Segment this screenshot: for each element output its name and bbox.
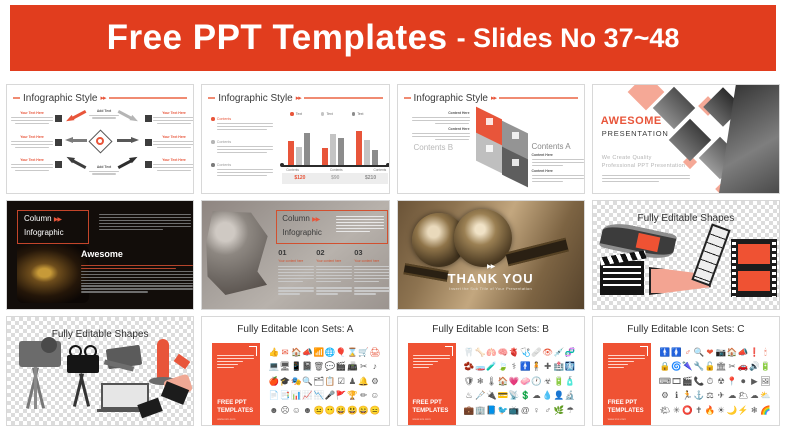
icon-cell[interactable]: 😶: [325, 406, 336, 415]
icon-grid-c[interactable]: 🚹🚺♂🔍❤📷🏠📣❗🕯🔒🌀🌂🔧🔓🏛✂🚗🔊🔋⌨🎞🎬📞⏱☢📍⏺▶🖼⚙ℹ🏃⚓⚖✈☁🌥☁⛅…: [659, 345, 771, 417]
legend-label: Text: [357, 112, 363, 116]
cover-card: FREE PPT TEMPLATES www.xxx.com: [603, 343, 651, 425]
category-label: Contents: [373, 168, 386, 172]
cover-body: [602, 173, 690, 184]
icon-cell[interactable]: ❄: [751, 406, 758, 415]
header-dash: [404, 97, 411, 99]
icon-cell[interactable]: ⌛: [347, 348, 358, 357]
icon-cell[interactable]: 🌙: [727, 406, 738, 415]
icon-cell[interactable]: 🍎: [269, 377, 280, 386]
label-contents-b: Contents B: [414, 143, 454, 152]
icon-cell[interactable]: 🫁: [486, 348, 497, 357]
cover-big-text: FREE PPT TEMPLATES: [413, 400, 456, 415]
icon-cell[interactable]: 🏠: [727, 348, 738, 357]
arrow-left-2: [65, 137, 87, 144]
icon-cell[interactable]: 🚩: [336, 391, 347, 400]
value-label-2: $90: [318, 173, 353, 184]
icon-cell[interactable]: 💲: [520, 391, 531, 400]
column-title-line2: Infographic: [282, 228, 322, 237]
slide-canvas: ▶▶ THANK YOU Insert the Sub Title of You…: [398, 201, 584, 309]
slide-canvas: Column ▶▶ Infographic Awesome: [7, 201, 193, 309]
block-heading: Your Text Here: [11, 111, 53, 115]
icon-cell[interactable]: ⚡: [738, 406, 749, 415]
double-arrow-icon: ▶▶: [54, 217, 61, 223]
bar-g2-s1: [322, 148, 328, 165]
icon-cell[interactable]: 🩼: [475, 391, 486, 400]
icon-cell[interactable]: 🎭: [291, 377, 302, 386]
icon-cell[interactable]: 😄: [358, 406, 369, 415]
play-icon: [55, 139, 62, 146]
icon-cell[interactable]: 💳: [497, 391, 508, 400]
icon-cell[interactable]: ☑: [337, 377, 345, 386]
column-number: 01: [278, 248, 314, 257]
category-label: Contents: [330, 168, 343, 172]
text-block-4: Your Text Here: [153, 111, 194, 126]
icon-cell[interactable]: ♨: [465, 391, 473, 400]
slide-thumbnail-47[interactable]: Fully Editable Icon Sets: B FREE PPT TEM…: [397, 316, 585, 426]
icon-cell[interactable]: 🔧: [693, 362, 704, 371]
slide-header: Infographic Style ▸▸: [208, 91, 382, 105]
icon-cell[interactable]: 🎬: [336, 362, 347, 371]
block-heading: Your Text Here: [153, 135, 194, 139]
icon-cell[interactable]: 🌿: [554, 406, 565, 415]
icon-cell[interactable]: 🗑: [313, 362, 324, 371]
document-icon: [486, 145, 493, 152]
icon-cell[interactable]: 👁: [542, 348, 553, 357]
icon-cell[interactable]: 📱: [291, 362, 302, 371]
icon-cell[interactable]: ❄: [477, 377, 484, 386]
icon-cell[interactable]: 🏢: [475, 406, 486, 415]
column-2: 02 Your content here: [316, 248, 352, 296]
shapes-title: Fully Editable Shapes: [593, 213, 779, 224]
icon-cell[interactable]: 🏥: [554, 362, 565, 371]
icon-cell[interactable]: ☁: [750, 391, 759, 400]
trophy-icon: [145, 161, 152, 168]
icon-cell[interactable]: 😑: [370, 406, 381, 415]
icon-cell[interactable]: 💬: [325, 362, 336, 371]
icon-cell[interactable]: 🌐: [325, 348, 336, 357]
icon-cell[interactable]: ⚖: [706, 391, 714, 400]
slide-canvas: Fully Editable Icon Sets: C FREE PPT TEM…: [593, 317, 779, 425]
block-heading: Your Text Here: [11, 135, 53, 139]
text-block-2: Your Text Here: [11, 135, 53, 150]
icon-cell[interactable]: 📈: [302, 391, 313, 400]
slide-canvas: Fully Editable Shapes: [7, 317, 193, 425]
icon-cell[interactable]: 🩺: [520, 348, 531, 357]
icon-cell[interactable]: 🌂: [682, 362, 693, 371]
icon-cell[interactable]: 🧫: [475, 362, 486, 371]
category-label: Contents: [286, 168, 299, 172]
chart-legend: Text Text Text: [290, 112, 363, 116]
right-content-1: Content Here: [532, 153, 584, 168]
icon-cell[interactable]: 💼: [464, 406, 475, 415]
icon-cell[interactable]: 🧠: [497, 348, 508, 357]
icon-cell[interactable]: 🦷: [464, 348, 475, 357]
icon-grid-b[interactable]: 🦷🦴🫁🧠🫀🩺🩹👁💉🧬🫘🧫🧪🍃⚕🚹🧍✚🏥🩻🛡❄🌡🏠💗🧼🕐☣🔋🧴♨🩼🔌💳📡💲☁💧👤🔬…: [464, 345, 576, 417]
icon-cell[interactable]: 🖨: [369, 348, 380, 357]
icon-cell[interactable]: 📡: [509, 391, 520, 400]
icon-cell[interactable]: 📓: [302, 362, 313, 371]
icon-cell[interactable]: ⚙: [371, 377, 379, 386]
bar-g2-s3: [338, 138, 344, 165]
icon-cell[interactable]: 🔒: [660, 362, 671, 371]
axis-cap-right: [386, 163, 389, 167]
icon-cell[interactable]: 🎤: [325, 391, 336, 400]
slide-thumbnail-37[interactable]: Infographic Style ▸▸: [6, 84, 194, 194]
film-canister-photo: [17, 245, 89, 303]
slide-title: Infographic Style: [218, 93, 293, 104]
cover-lines: [217, 353, 254, 370]
bullet-dot-icon: [211, 163, 215, 167]
slide-thumbnail-48[interactable]: Fully Editable Icon Sets: C FREE PPT TEM…: [592, 316, 780, 426]
bullet-item-1: Contents: [211, 117, 273, 132]
icon-cell[interactable]: 🚺: [671, 348, 682, 357]
icon-cell[interactable]: 📺: [509, 406, 520, 415]
icon-cell[interactable]: 🚹: [660, 348, 671, 357]
icon-cell[interactable]: 🛡: [464, 377, 475, 386]
icon-cell[interactable]: ☁: [532, 391, 541, 400]
chat-icon: [145, 139, 152, 146]
icon-cell[interactable]: 🏛: [716, 362, 727, 371]
banner-subtitle: - Slides No 37~48: [457, 23, 680, 54]
cover-big-text: FREE PPT TEMPLATES: [217, 400, 260, 415]
cover-lines: [608, 353, 645, 370]
icon-cell[interactable]: 🔋: [760, 362, 771, 371]
icon-cell[interactable]: 🦴: [475, 348, 486, 357]
bullet-item-3: Contents: [211, 163, 273, 178]
lock-icon: [486, 118, 493, 125]
bar-chart-plot: [286, 121, 386, 165]
icon-cell[interactable]: 😃: [347, 406, 358, 415]
icon-cell[interactable]: 🏠: [497, 377, 508, 386]
arrow-right-2: [117, 137, 139, 144]
icon-cell[interactable]: 📶: [313, 348, 324, 357]
slide-title: Infographic Style: [414, 93, 489, 104]
operator-head-icon: [41, 337, 57, 353]
icon-cell[interactable]: ⚓: [693, 391, 704, 400]
slide-thumbnail-grid: Infographic Style ▸▸: [6, 84, 780, 426]
icon-grid-a[interactable]: 👍✉🏠📣📶🌐🎈⌛🛒🖨💻🖥📱📓🗑💬🎬📠✂♪🍎🎓🎭🔍🗂📋☑♟🔔⚙📄📑📊📈📉🎤🚩🏆✏☺…: [268, 345, 380, 417]
icon-cell[interactable]: ❗: [749, 348, 760, 357]
film-reel-2: [454, 209, 512, 267]
legend-label: Text: [296, 112, 302, 116]
icon-cell[interactable]: 🎓: [280, 377, 291, 386]
section-heading: Awesome: [81, 249, 123, 259]
column-subheading: Your content here: [278, 259, 314, 263]
center-caption-bottom: Add Text: [83, 165, 125, 175]
slide-thumbnail-44[interactable]: Fully Editable Shapes: [592, 200, 780, 310]
icon-cell[interactable]: 🎬: [682, 377, 693, 386]
icon-cell[interactable]: 🔍: [693, 348, 704, 357]
icon-cell[interactable]: ▶: [751, 377, 758, 386]
title-text: Column: [24, 214, 52, 223]
left-content-2: Content Here: [412, 127, 470, 142]
icon-cell[interactable]: 🌥: [738, 391, 749, 400]
slide-title: Infographic Style: [23, 93, 98, 104]
icon-cell[interactable]: 🚗: [738, 362, 749, 371]
cover-big-text: FREE PPT TEMPLATES: [608, 400, 651, 415]
icon-cell[interactable]: ☻: [269, 406, 278, 415]
icon-cell[interactable]: 🌤: [659, 406, 670, 415]
bullet-item-2: Contents: [211, 140, 273, 155]
icon-cell[interactable]: 🔌: [486, 391, 497, 400]
title-text: Column: [282, 214, 310, 223]
icon-cell[interactable]: ❤: [706, 348, 713, 357]
clapperboard-icon: [600, 261, 644, 295]
icon-cell[interactable]: 📞: [693, 377, 704, 386]
icon-cell[interactable]: ☁: [728, 391, 737, 400]
shield-icon: [512, 132, 519, 139]
icon-cell[interactable]: ♪: [373, 362, 377, 371]
icon-cell[interactable]: 📷: [716, 348, 727, 357]
icon-cell[interactable]: ✳: [673, 406, 680, 415]
icon-cell[interactable]: 📣: [302, 348, 313, 357]
block-heading: Your Text Here: [153, 158, 194, 162]
icon-cell[interactable]: 🫘: [464, 362, 475, 371]
double-arrow-icon: ▸▸: [296, 94, 301, 102]
slide-header: Infographic Style ▸▸: [404, 91, 578, 105]
iconset-title: Fully Editable Icon Sets: A: [202, 324, 388, 335]
icon-cell[interactable]: 🧬: [565, 348, 576, 357]
icon-cell[interactable]: ✝: [695, 406, 702, 415]
value-label-1: $120: [282, 173, 317, 184]
icon-cell[interactable]: 🏠: [291, 348, 302, 357]
double-arrow-icon: ▸▸: [101, 94, 106, 102]
bar-g3-s1: [356, 131, 362, 165]
bar-g2-s2: [330, 134, 336, 165]
thank-you-subheading: Insert the Sub Title of Your Presentatio…: [398, 286, 584, 291]
thank-you-heading: THANK YOU: [398, 271, 584, 286]
icon-cell[interactable]: 🚹: [520, 362, 531, 371]
iconset-title: Fully Editable Icon Sets: C: [593, 324, 779, 335]
icon-cell[interactable]: 🌡: [486, 377, 497, 386]
icon-cell[interactable]: 👍: [269, 348, 280, 357]
slide-canvas: Column ▶▶ Infographic 01 Your content he…: [202, 201, 388, 309]
icon-cell[interactable]: 🔥: [705, 406, 716, 415]
icon-cell[interactable]: ☂: [566, 406, 574, 415]
icon-cell[interactable]: ⚙: [661, 391, 669, 400]
icon-cell[interactable]: 🩻: [565, 362, 576, 371]
icon-cell[interactable]: 📑: [280, 391, 291, 400]
award-trophy-icon: [157, 339, 169, 379]
icon-cell[interactable]: ✉: [282, 348, 289, 357]
content-heading: Content Here: [412, 111, 470, 115]
icon-cell[interactable]: 📠: [347, 362, 358, 371]
icon-cell[interactable]: 💧: [542, 391, 553, 400]
icon-cell[interactable]: 💉: [554, 348, 565, 357]
icon-cell[interactable]: 📉: [313, 391, 324, 400]
double-arrow-icon: ▶▶: [398, 263, 584, 270]
slide-thumbnail-46[interactable]: Fully Editable Icon Sets: A FREE PPT TEM…: [201, 316, 389, 426]
slide-thumbnail-39[interactable]: Infographic Style ▸▸ Content Here: [397, 84, 585, 194]
icon-cell[interactable]: 💗: [509, 377, 520, 386]
center-circle-icon: [96, 137, 104, 145]
icon-cell[interactable]: 🌀: [671, 362, 682, 371]
content-heading: Content Here: [532, 153, 584, 157]
icon-cell[interactable]: ⭕: [682, 406, 693, 415]
icon-cell[interactable]: 🩹: [531, 348, 542, 357]
icon-cell[interactable]: 😐: [313, 406, 324, 415]
bullet-dot-icon: [211, 117, 215, 121]
icon-cell[interactable]: ♂: [544, 406, 550, 415]
intro-paragraph: [336, 214, 384, 234]
icon-cell[interactable]: 🕐: [531, 377, 542, 386]
icon-cell[interactable]: 🌈: [760, 406, 771, 415]
bar-g3-s3: [372, 150, 378, 165]
battery-icon: [145, 115, 152, 122]
printer-icon: [55, 115, 62, 122]
icon-cell[interactable]: ☻: [303, 406, 312, 415]
icon-cell[interactable]: 🧪: [486, 362, 497, 371]
icon-cell[interactable]: ℹ: [675, 391, 678, 400]
column-title-line1: Column ▶▶: [282, 214, 319, 223]
icon-cell[interactable]: ⏱: [707, 377, 714, 386]
slide-canvas: AWESOME PRESENTATION We Create Quality P…: [593, 85, 779, 193]
chart-x-axis: [282, 165, 388, 167]
slide-canvas: Fully Editable Shapes: [593, 201, 779, 309]
icon-cell[interactable]: ☢: [717, 377, 725, 386]
double-arrow-icon: ▸▸: [491, 94, 496, 102]
projector-reel-1: [69, 345, 82, 358]
axis-cap-left: [280, 163, 284, 167]
icon-cell[interactable]: 🏃: [682, 391, 693, 400]
text-block-5: Your Text Here: [153, 135, 194, 150]
icon-cell[interactable]: ⌨: [659, 377, 671, 386]
slide-thumbnail-43[interactable]: ▶▶ THANK YOU Insert the Sub Title of You…: [397, 200, 585, 310]
header-rule: [499, 97, 578, 99]
slide-header: Infographic Style ▸▸: [13, 91, 187, 105]
column-number: 02: [316, 248, 352, 257]
slide-thumbnail-42[interactable]: Column ▶▶ Infographic 01 Your content he…: [201, 200, 389, 310]
icon-cell[interactable]: 🛒: [358, 348, 369, 357]
icon-cell[interactable]: 🧼: [520, 377, 531, 386]
bullet-label: Contents: [217, 163, 231, 167]
icon-cell[interactable]: ✏: [360, 391, 367, 400]
icon-cell[interactable]: 🔔: [358, 377, 369, 386]
slide-thumbnail-45[interactable]: Fully Editable Shapes: [6, 316, 194, 426]
icon-cell[interactable]: 🔋: [554, 377, 565, 386]
block-heading: Your Text Here: [153, 111, 194, 115]
icon-cell[interactable]: ☺: [292, 406, 301, 415]
icon-cell[interactable]: 🧍: [531, 362, 542, 371]
icon-cell[interactable]: ☀: [717, 406, 725, 415]
bullet-label: Contents: [217, 117, 231, 121]
tripod-leg: [34, 367, 37, 409]
icon-cell[interactable]: ☣: [544, 377, 552, 386]
column-title-line2: Infographic: [24, 228, 64, 237]
column-title-line1: Column ▶▶: [24, 214, 61, 223]
column-number: 03: [354, 248, 389, 257]
page-root: Free PPT Templates - Slides No 37~48 Inf…: [0, 0, 786, 430]
cover-tagline-2: Professional PPT Presentation: [602, 163, 686, 169]
header-dash: [208, 97, 215, 99]
header-rule: [109, 97, 188, 99]
movie-projector-icon: [67, 355, 99, 373]
content-heading: Content Here: [532, 169, 584, 173]
slide-thumbnail-40[interactable]: AWESOME PRESENTATION We Create Quality P…: [592, 84, 780, 194]
icon-cell[interactable]: 🔊: [749, 362, 760, 371]
icon-cell[interactable]: 📋: [325, 377, 336, 386]
label-contents-a: Contents A: [532, 142, 571, 151]
icon-cell[interactable]: ☺: [371, 391, 380, 400]
column-subheading: Your content here: [354, 259, 389, 263]
icon-cell[interactable]: 🖼: [760, 377, 771, 386]
icon-cell[interactable]: 🧴: [565, 377, 576, 386]
icon-cell[interactable]: ✚: [544, 362, 551, 371]
slide-thumbnail-38[interactable]: Infographic Style ▸▸ Contents Contents: [201, 84, 389, 194]
icon-cell[interactable]: ♀: [533, 406, 539, 415]
icon-cell[interactable]: ✈: [717, 391, 724, 400]
icon-cell[interactable]: 💻: [269, 362, 280, 371]
slide-thumbnail-41[interactable]: Column ▶▶ Infographic Awesome: [6, 200, 194, 310]
cover-card: FREE PPT TEMPLATES www.xxx.com: [212, 343, 260, 425]
header-banner: Free PPT Templates - Slides No 37~48: [10, 5, 776, 71]
icon-cell[interactable]: 🐦: [497, 406, 508, 415]
icon-cell[interactable]: 🕯: [764, 348, 766, 357]
bar-g1-s1: [288, 141, 294, 165]
column-subheading: Your content here: [316, 259, 352, 263]
legend-swatch: [290, 112, 294, 116]
icon-cell[interactable]: 🔍: [302, 377, 313, 386]
icon-cell[interactable]: 🎞: [671, 377, 682, 386]
cover-url: www.xxx.com: [608, 417, 626, 421]
block-heading: Your Text Here: [11, 158, 53, 162]
icon-cell[interactable]: ⏺: [741, 377, 745, 386]
header-dash: [13, 97, 20, 99]
icon-cell[interactable]: 🖥: [280, 362, 291, 371]
icon-cell[interactable]: 😀: [336, 406, 347, 415]
content-heading: Content Here: [412, 127, 470, 131]
icon-cell[interactable]: ✂: [360, 362, 367, 371]
icon-cell[interactable]: 🍃: [497, 362, 508, 371]
icon-cell[interactable]: 📊: [291, 391, 302, 400]
text-block-6: Your Text Here: [153, 158, 194, 173]
icon-cell[interactable]: ⛅: [760, 391, 771, 400]
icon-cell[interactable]: ♂: [684, 348, 690, 357]
column-3: 03 Your content here: [354, 248, 389, 296]
cover-tagline-1: We Create Quality: [602, 155, 652, 161]
cover-card: FREE PPT TEMPLATES www.xxx.com: [408, 343, 456, 425]
icon-cell[interactable]: 👤: [554, 391, 565, 400]
icon-cell[interactable]: ☹: [281, 406, 290, 415]
cover-lines: [413, 353, 450, 370]
legend-swatch: [321, 112, 325, 116]
icon-cell[interactable]: ✂: [729, 362, 736, 371]
icon-cell[interactable]: @: [521, 406, 530, 415]
chart-category-labels: Contents Contents Contents: [286, 168, 386, 172]
icon-cell[interactable]: ⚕: [512, 362, 517, 371]
icon-cell[interactable]: 🗂: [313, 377, 324, 386]
right-content-2: Content Here: [532, 169, 584, 184]
icon-cell[interactable]: 🏆: [347, 391, 358, 400]
icon-cell[interactable]: 📣: [738, 348, 749, 357]
bar-g1-s3: [304, 133, 310, 165]
icon-cell[interactable]: 🫀: [509, 348, 520, 357]
icon-cell[interactable]: 🔬: [565, 391, 576, 400]
tools-icon: [512, 159, 519, 166]
cover-url: www.xxx.com: [217, 417, 235, 421]
body-paragraph: [81, 263, 193, 294]
icon-cell[interactable]: ♟: [349, 377, 357, 386]
left-content-1: Content Here: [412, 111, 470, 126]
icon-cell[interactable]: 🎈: [336, 348, 347, 357]
bullet-dot-icon: [211, 140, 215, 144]
icon-cell[interactable]: 📄: [269, 391, 280, 400]
icon-cell[interactable]: 🔓: [705, 362, 716, 371]
icon-cell[interactable]: 📘: [486, 406, 497, 415]
icon-cell[interactable]: 📍: [727, 377, 738, 386]
cover-url: www.xxx.com: [413, 417, 431, 421]
